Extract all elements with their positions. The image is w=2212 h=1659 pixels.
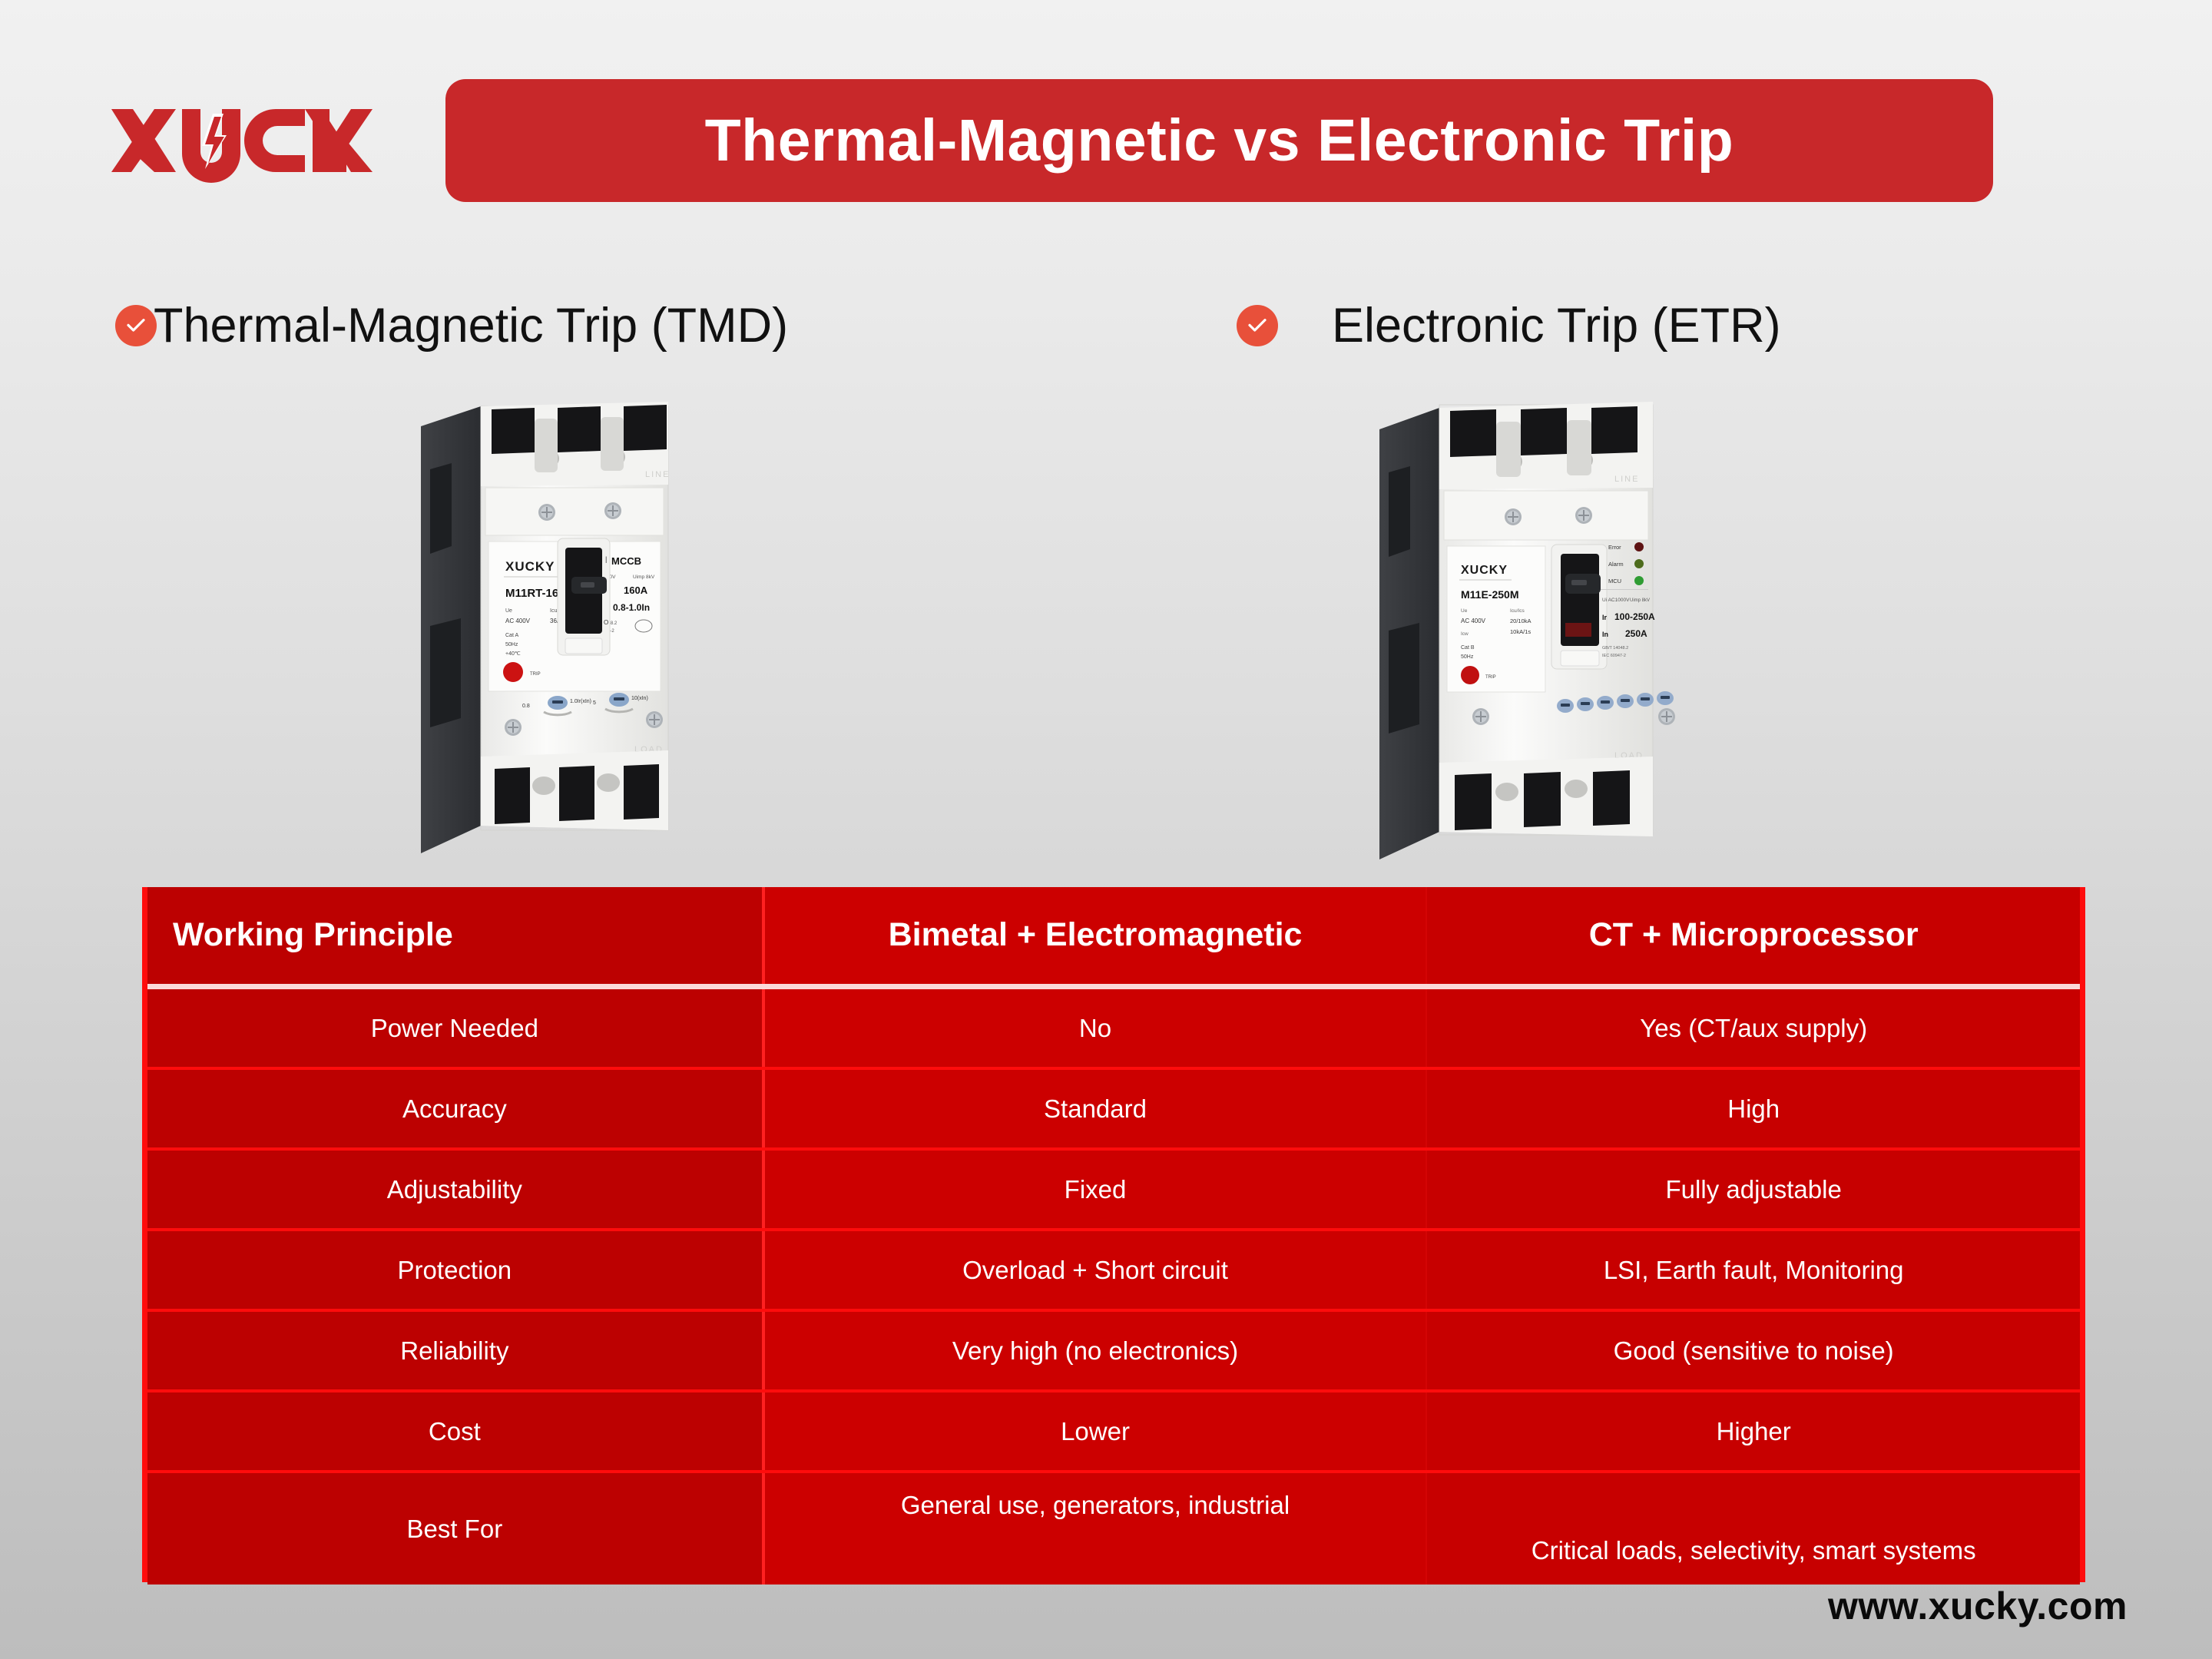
svg-text:M11E-250M: M11E-250M [1461,588,1518,601]
svg-text:Cat A: Cat A [505,633,518,638]
svg-text:0.8: 0.8 [522,704,530,709]
row-tmd-value: Overload + Short circuit [762,1231,1426,1309]
table-header-row: Working Principle Bimetal + Electromagne… [147,887,2080,989]
svg-text:|: | [605,555,607,563]
row-feature: Best For [147,1473,762,1584]
row-etr-value: High [1426,1070,2080,1147]
svg-text:Uimp 8kV: Uimp 8kV [633,575,655,580]
etr-breaker-photo: LINE XUCKY M11E-250M Ue Icu/Ics AC 400V … [1375,396,1720,879]
table-row: Protection Overload + Short circuit LSI,… [147,1231,2080,1312]
svg-text:Uimp 8kV: Uimp 8kV [1630,598,1650,603]
row-feature: Accuracy [147,1070,762,1147]
row-feature: Cost [147,1392,762,1470]
section-heading-tmd-label: Thermal-Magnetic Trip (TMD) [154,298,788,353]
comparison-table: Working Principle Bimetal + Electromagne… [142,887,2085,1582]
svg-text:Icu/Ics: Icu/Ics [1510,608,1525,614]
table-row: Cost Lower Higher [147,1392,2080,1473]
svg-text:GB/T 14048.2: GB/T 14048.2 [1602,646,1628,651]
svg-text:TRIP: TRIP [530,672,541,677]
page-header: Thermal-Magnetic vs Electronic Trip [0,0,2212,246]
svg-text:Cat B: Cat B [1461,645,1475,651]
svg-text:10(xIn): 10(xIn) [631,696,648,701]
table-row: Accuracy Standard High [147,1070,2080,1151]
table-row: Adjustability Fixed Fully adjustable [147,1151,2080,1231]
svg-text:Ue: Ue [505,608,512,614]
svg-text:50Hz: 50Hz [1461,654,1474,660]
page-title: Thermal-Magnetic vs Electronic Trip [705,107,1734,175]
brand-logo [111,98,388,183]
svg-text:O: O [604,619,608,626]
row-feature: Protection [147,1231,762,1309]
footer-website-url[interactable]: www.xucky.com [1828,1584,2128,1628]
svg-text:Alarm: Alarm [1608,561,1624,568]
section-heading-etr: Electronic Trip (ETR) [1237,298,1781,353]
row-tmd-value: Very high (no electronics) [762,1312,1426,1389]
table-row: Best For General use, generators, indust… [147,1473,2080,1584]
svg-text:MCU: MCU [1608,578,1621,584]
svg-text:10kA/1s: 10kA/1s [1510,628,1531,635]
svg-text:Ue: Ue [1461,608,1468,614]
row-etr-value: Critical loads, selectivity, smart syste… [1426,1473,2080,1584]
svg-text:+40℃: +40℃ [505,651,521,657]
row-etr-value: Good (sensitive to noise) [1426,1312,2080,1389]
svg-text:Ui AC1000V: Ui AC1000V [1602,598,1630,603]
svg-text:Icw: Icw [1461,631,1469,637]
svg-text:LINE: LINE [645,470,670,479]
svg-text:250A: 250A [1625,628,1647,639]
svg-text:AC 400V: AC 400V [505,618,531,624]
table-row: Power Needed No Yes (CT/aux supply) [147,989,2080,1070]
svg-text:0.8-1.0In: 0.8-1.0In [613,602,650,613]
svg-text:1.0Ir(xIn): 1.0Ir(xIn) [570,699,591,704]
table-header-etr: CT + Microprocessor [1426,887,2080,984]
table-row: Reliability Very high (no electronics) G… [147,1312,2080,1392]
row-feature: Reliability [147,1312,762,1389]
svg-text:160A: 160A [624,584,648,596]
row-tmd-value: No [762,989,1426,1067]
row-tmd-value: Lower [762,1392,1426,1470]
svg-text:MCCB: MCCB [611,555,641,567]
row-feature: Power Needed [147,989,762,1067]
svg-text:Error: Error [1608,544,1621,551]
svg-text:AC 400V: AC 400V [1461,618,1486,624]
row-feature: Adjustability [147,1151,762,1228]
row-etr-value: Yes (CT/aux supply) [1426,989,2080,1067]
svg-text:50Hz: 50Hz [505,642,518,647]
title-banner: Thermal-Magnetic vs Electronic Trip [445,79,1993,202]
row-tmd-value: Standard [762,1070,1426,1147]
svg-text:LINE: LINE [1614,475,1639,484]
check-circle-icon [1237,305,1278,346]
row-tmd-value: General use, generators, industrial [762,1473,1426,1584]
tmd-breaker-photo: LINE XUCKY M11RT-160M Ue Icu/Ics AC 400V… [415,396,737,872]
section-heading-tmd: Thermal-Magnetic Trip (TMD) [115,298,788,353]
svg-text:5: 5 [593,700,596,706]
table-header-tmd: Bimetal + Electromagnetic [762,887,1426,984]
section-heading-etr-label: Electronic Trip (ETR) [1332,298,1781,353]
svg-text:IEC 60947-2: IEC 60947-2 [1602,654,1626,658]
svg-text:Ir: Ir [1602,614,1608,621]
svg-text:In: In [1602,631,1608,638]
row-etr-value: Higher [1426,1392,2080,1470]
svg-text:100-250A: 100-250A [1614,611,1655,622]
svg-text:TRIP: TRIP [1485,675,1496,680]
svg-text:XUCKY: XUCKY [505,559,555,574]
svg-text:XUCKY: XUCKY [1461,564,1508,577]
row-tmd-value: Fixed [762,1151,1426,1228]
svg-text:20/10kA: 20/10kA [1510,618,1532,624]
row-etr-value: LSI, Earth fault, Monitoring [1426,1231,2080,1309]
check-circle-icon [115,305,157,346]
table-header-feature: Working Principle [147,887,762,984]
row-etr-value: Fully adjustable [1426,1151,2080,1228]
